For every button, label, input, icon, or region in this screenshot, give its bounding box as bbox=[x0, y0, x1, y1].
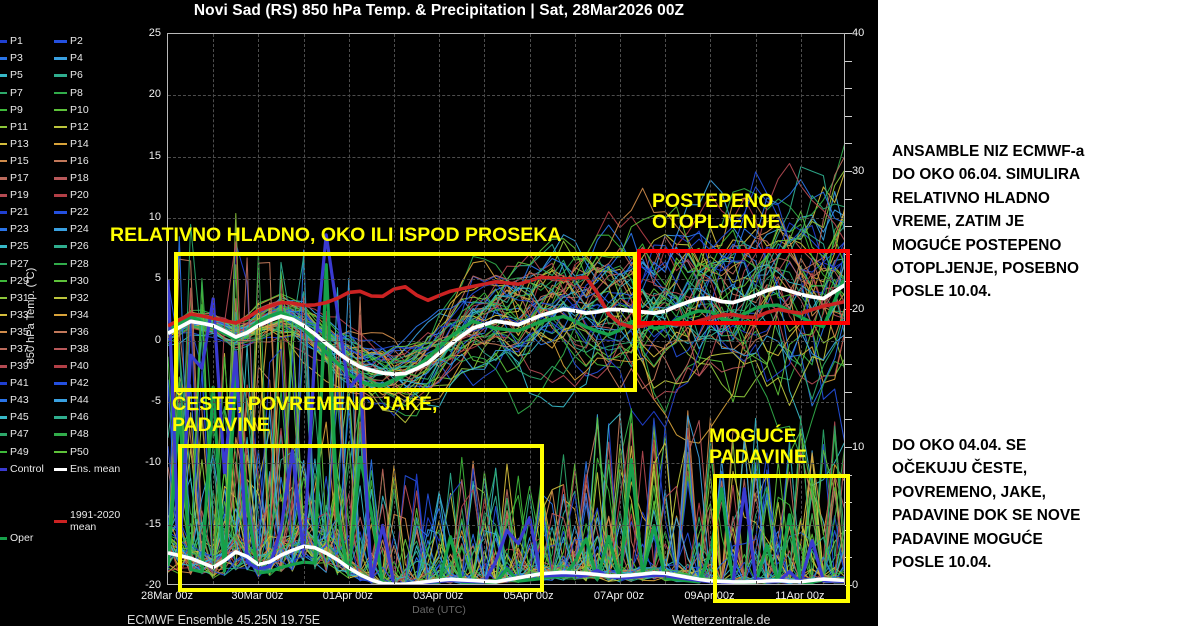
legend-item-p26: P26 bbox=[54, 238, 116, 255]
legend-item-label: P17 bbox=[10, 173, 29, 184]
legend-swatch-icon bbox=[0, 74, 7, 77]
legend-swatch-icon bbox=[0, 143, 7, 146]
legend-item-label: P9 bbox=[10, 105, 23, 116]
legend-swatch-icon bbox=[0, 382, 7, 385]
legend-swatch-icon bbox=[0, 228, 7, 231]
legend-item-p49: P49 bbox=[0, 443, 56, 460]
legend-item-label: P3 bbox=[10, 53, 23, 64]
y-tick-mark-right bbox=[845, 364, 852, 365]
y-tick-mark-right bbox=[845, 447, 852, 448]
y-tick-label-left: 10 bbox=[127, 211, 161, 223]
legend-item-label: Oper bbox=[10, 533, 33, 544]
legend-item-label: P49 bbox=[10, 447, 29, 458]
legend-swatch-icon bbox=[0, 365, 7, 368]
legend-swatch-icon bbox=[0, 177, 7, 180]
legend-item-label: P5 bbox=[10, 70, 23, 81]
y-tick-label-left: -10 bbox=[127, 456, 161, 468]
x-tick-label: 07Apr 00z bbox=[594, 590, 644, 602]
legend-item-label: P13 bbox=[10, 139, 29, 150]
y-tick-label-left: -5 bbox=[127, 395, 161, 407]
y-tick-mark-right bbox=[845, 116, 852, 117]
legend-swatch-icon bbox=[0, 314, 7, 317]
legend-swatch-icon bbox=[54, 314, 67, 317]
legend-swatch-icon bbox=[54, 245, 67, 248]
legend-swatch-icon bbox=[0, 109, 7, 112]
legend-item-p16: P16 bbox=[54, 153, 116, 170]
legend-item-label: P43 bbox=[10, 395, 29, 406]
legend-item-p44: P44 bbox=[54, 392, 116, 409]
y-tick-label-right: 0 bbox=[852, 579, 878, 591]
legend-item-label: P19 bbox=[10, 190, 29, 201]
legend-swatch-icon bbox=[0, 537, 7, 540]
legend-swatch-icon bbox=[0, 433, 7, 436]
footer-source: ECMWF Ensemble 45.25N 19.75E bbox=[127, 613, 320, 626]
legend-item-label: P15 bbox=[10, 156, 29, 167]
legend-swatch-icon bbox=[54, 40, 67, 43]
legend-swatch-icon bbox=[0, 451, 7, 454]
legend-item-label: P7 bbox=[10, 88, 23, 99]
legend-swatch-icon bbox=[0, 126, 7, 129]
legend-item-label: P21 bbox=[10, 207, 29, 218]
legend-item-p42: P42 bbox=[54, 375, 116, 392]
legend-swatch-icon bbox=[54, 160, 67, 163]
y-tick-mark-right bbox=[845, 226, 852, 227]
legend-swatch-icon bbox=[54, 451, 67, 454]
legend-item-label: P48 bbox=[70, 429, 89, 440]
legend-swatch-icon bbox=[54, 143, 67, 146]
legend-swatch-icon bbox=[54, 348, 67, 351]
page-title: Novi Sad (RS) 850 hPa Temp. & Precipitat… bbox=[0, 2, 878, 20]
legend-item-p19: P19 bbox=[0, 187, 56, 204]
legend-item-label: P22 bbox=[70, 207, 89, 218]
legend-item-label: P20 bbox=[70, 190, 89, 201]
legend-item-p17: P17 bbox=[0, 170, 56, 187]
highlight-box-temperature bbox=[174, 252, 637, 392]
legend-item-label: P14 bbox=[70, 139, 89, 150]
legend-swatch-icon bbox=[54, 263, 67, 266]
y-tick-mark-right bbox=[845, 392, 852, 393]
legend-item-p6: P6 bbox=[54, 67, 116, 84]
legend-item-p3: P3 bbox=[0, 50, 56, 67]
legend-item-p7: P7 bbox=[0, 84, 56, 101]
y-axis-label-left: 850 hPa Temp. (°C) bbox=[25, 241, 37, 391]
highlight-box-precipitation-late bbox=[713, 474, 850, 603]
legend-swatch-icon bbox=[54, 433, 67, 436]
legend-swatch-icon bbox=[0, 245, 7, 248]
legend-swatch-icon bbox=[0, 399, 7, 402]
y-tick-label-left: 25 bbox=[127, 27, 161, 39]
legend-item-p40: P40 bbox=[54, 358, 116, 375]
legend-swatch-icon bbox=[54, 382, 67, 385]
legend-item-p9: P9 bbox=[0, 101, 56, 118]
y-tick-label-right: 20 bbox=[852, 303, 878, 315]
legend-swatch-icon bbox=[54, 57, 67, 60]
legend-swatch-icon bbox=[54, 74, 67, 77]
legend-item-oper: Oper bbox=[0, 530, 33, 547]
legend-swatch-icon bbox=[0, 160, 7, 163]
legend-swatch-icon bbox=[54, 365, 67, 368]
legend-swatch-icon bbox=[0, 468, 7, 471]
legend-swatch-icon bbox=[54, 211, 67, 214]
y-tick-label-left: 15 bbox=[127, 150, 161, 162]
legend-swatch-icon bbox=[0, 57, 7, 60]
legend-item-label: P47 bbox=[10, 429, 29, 440]
legend-item-p4: P4 bbox=[54, 50, 116, 67]
legend-item-p46: P46 bbox=[54, 409, 116, 426]
legend-swatch-icon bbox=[0, 40, 7, 43]
y-tick-label-left: -15 bbox=[127, 518, 161, 530]
y-tick-mark-right bbox=[845, 199, 852, 200]
legend-item-p32: P32 bbox=[54, 289, 116, 306]
legend-item-p12: P12 bbox=[54, 118, 116, 135]
legend-item-label: P18 bbox=[70, 173, 89, 184]
annotation-warming-label: POSTEPENO OTOPLJENJE bbox=[652, 191, 781, 232]
annotation-paragraph-2: DO OKO 04.04. SE OČEKUJU ČESTE, POVREMEN… bbox=[892, 434, 1192, 574]
legend-item-label: P11 bbox=[10, 122, 28, 133]
legend-item-label: P16 bbox=[70, 156, 89, 167]
legend-swatch-icon bbox=[0, 92, 7, 95]
y-tick-mark-right bbox=[845, 337, 852, 338]
legend-item-label: P30 bbox=[70, 276, 89, 287]
chart-panel: Novi Sad (RS) 850 hPa Temp. & Precipitat… bbox=[0, 0, 878, 626]
y-tick-label-right: 30 bbox=[852, 165, 878, 177]
legend-swatch-icon bbox=[54, 468, 67, 471]
y-tick-label-left: 5 bbox=[127, 272, 161, 284]
y-tick-label-left: 0 bbox=[127, 334, 161, 346]
legend-item-p13: P13 bbox=[0, 136, 56, 153]
legend-swatch-icon bbox=[0, 331, 7, 334]
legend-item-p14: P14 bbox=[54, 136, 116, 153]
legend-swatch-icon bbox=[0, 416, 7, 419]
annotation-precipitation-label: ČESTE, POVREMENO JAKE, PADAVINE bbox=[172, 394, 437, 435]
highlight-box-warming bbox=[637, 249, 850, 325]
legend-item-label: P24 bbox=[70, 224, 89, 235]
gridline-horizontal bbox=[168, 157, 844, 158]
y-tick-mark-right bbox=[845, 419, 852, 420]
legend-item-label: P12 bbox=[70, 122, 89, 133]
legend-item-control: Control bbox=[0, 461, 44, 478]
y-tick-mark-right bbox=[845, 61, 852, 62]
footer-credit: Wetterzentrale.de bbox=[672, 613, 770, 626]
y-tick-mark-right bbox=[845, 171, 852, 172]
legend-swatch-icon bbox=[0, 348, 7, 351]
legend-item-label: P44 bbox=[70, 395, 89, 406]
legend-item-p18: P18 bbox=[54, 170, 116, 187]
gridline-horizontal bbox=[168, 95, 844, 96]
legend-item-p28: P28 bbox=[54, 255, 116, 272]
legend-column-even: P2P4P6P8P10P12P14P16P18P20P22P24P26P28P3… bbox=[54, 33, 116, 460]
legend-swatch-icon bbox=[0, 263, 7, 266]
legend: P1P3P5P7P9P11P13P15P17P19P21P23P25P27P29… bbox=[0, 33, 124, 503]
legend-item-label: P23 bbox=[10, 224, 29, 235]
legend-item-label: P28 bbox=[70, 259, 89, 270]
legend-swatch-icon bbox=[54, 331, 67, 334]
legend-item-p50: P50 bbox=[54, 443, 116, 460]
legend-item-label: P38 bbox=[70, 344, 89, 355]
legend-item-p47: P47 bbox=[0, 426, 56, 443]
legend-item-label: P4 bbox=[70, 53, 83, 64]
legend-item-label: P1 bbox=[10, 36, 23, 47]
legend-swatch-icon bbox=[54, 297, 67, 300]
legend-swatch-icon bbox=[54, 416, 67, 419]
legend-item-label: P45 bbox=[10, 412, 29, 423]
legend-swatch-icon bbox=[54, 92, 67, 95]
legend-item-label: Control bbox=[10, 464, 44, 475]
legend-item-label: P26 bbox=[70, 241, 89, 252]
y-tick-label-right: 10 bbox=[852, 441, 878, 453]
legend-item-p8: P8 bbox=[54, 84, 116, 101]
legend-item-p23: P23 bbox=[0, 221, 56, 238]
legend-item-p48: P48 bbox=[54, 426, 116, 443]
legend-item-p43: P43 bbox=[0, 392, 56, 409]
side-annotation-panel: ANSAMBLE NIZ ECMWF-a DO OKO 06.04. SIMUL… bbox=[878, 0, 1200, 626]
legend-item-label: P36 bbox=[70, 327, 89, 338]
legend-item-p1: P1 bbox=[0, 33, 56, 50]
legend-item-ens-mean: Ens. mean bbox=[54, 461, 120, 478]
legend-item-p11: P11 bbox=[0, 118, 56, 135]
legend-item-p2: P2 bbox=[54, 33, 116, 50]
y-tick-mark-right bbox=[845, 88, 852, 89]
y-tick-mark-right bbox=[845, 33, 852, 34]
legend-item-p38: P38 bbox=[54, 341, 116, 358]
legend-item-label: P2 bbox=[70, 36, 83, 47]
legend-item-p20: P20 bbox=[54, 187, 116, 204]
legend-swatch-icon bbox=[54, 399, 67, 402]
legend-item-label: P46 bbox=[70, 412, 89, 423]
legend-item-label: P42 bbox=[70, 378, 89, 389]
legend-swatch-icon bbox=[54, 194, 67, 197]
legend-item-label: P6 bbox=[70, 70, 83, 81]
legend-swatch-icon bbox=[0, 211, 7, 214]
legend-swatch-icon bbox=[0, 297, 7, 300]
legend-item-p24: P24 bbox=[54, 221, 116, 238]
legend-item-label: Ens. mean bbox=[70, 464, 120, 475]
legend-swatch-icon bbox=[54, 228, 67, 231]
legend-item-p36: P36 bbox=[54, 324, 116, 341]
legend-item-label: P40 bbox=[70, 361, 89, 372]
legend-swatch-icon bbox=[54, 126, 67, 129]
legend-item-label: P34 bbox=[70, 310, 89, 321]
legend-swatch-icon bbox=[54, 280, 67, 283]
legend-swatch-icon bbox=[0, 194, 7, 197]
legend-item-label: P32 bbox=[70, 293, 89, 304]
legend-item-p22: P22 bbox=[54, 204, 116, 221]
legend-item-label: P10 bbox=[70, 105, 89, 116]
annotation-temperature-label: RELATIVNO HLADNO, OKO ILI ISPOD PROSEKA bbox=[110, 225, 561, 246]
legend-item-label: P8 bbox=[70, 88, 83, 99]
legend-swatch-icon bbox=[54, 177, 67, 180]
legend-item-p10: P10 bbox=[54, 101, 116, 118]
legend-swatch-icon bbox=[54, 109, 67, 112]
highlight-box-precipitation bbox=[178, 444, 544, 592]
annotation-precipitation-late-label: MOGUĆE PADAVINE bbox=[709, 426, 807, 467]
legend-swatch-icon bbox=[0, 280, 7, 283]
legend-item-p21: P21 bbox=[0, 204, 56, 221]
legend-item-p15: P15 bbox=[0, 153, 56, 170]
legend-item-p45: P45 bbox=[0, 409, 56, 426]
legend-item-p5: P5 bbox=[0, 67, 56, 84]
annotation-paragraph-1: ANSAMBLE NIZ ECMWF-a DO OKO 06.04. SIMUL… bbox=[892, 140, 1192, 304]
y-tick-mark-right bbox=[845, 143, 852, 144]
y-tick-label-left: 20 bbox=[127, 88, 161, 100]
y-tick-label-right: 40 bbox=[852, 27, 878, 39]
legend-item-p34: P34 bbox=[54, 307, 116, 324]
legend-item-label: P50 bbox=[70, 447, 89, 458]
legend-item-p30: P30 bbox=[54, 272, 116, 289]
legend-swatch-icon bbox=[54, 520, 67, 523]
